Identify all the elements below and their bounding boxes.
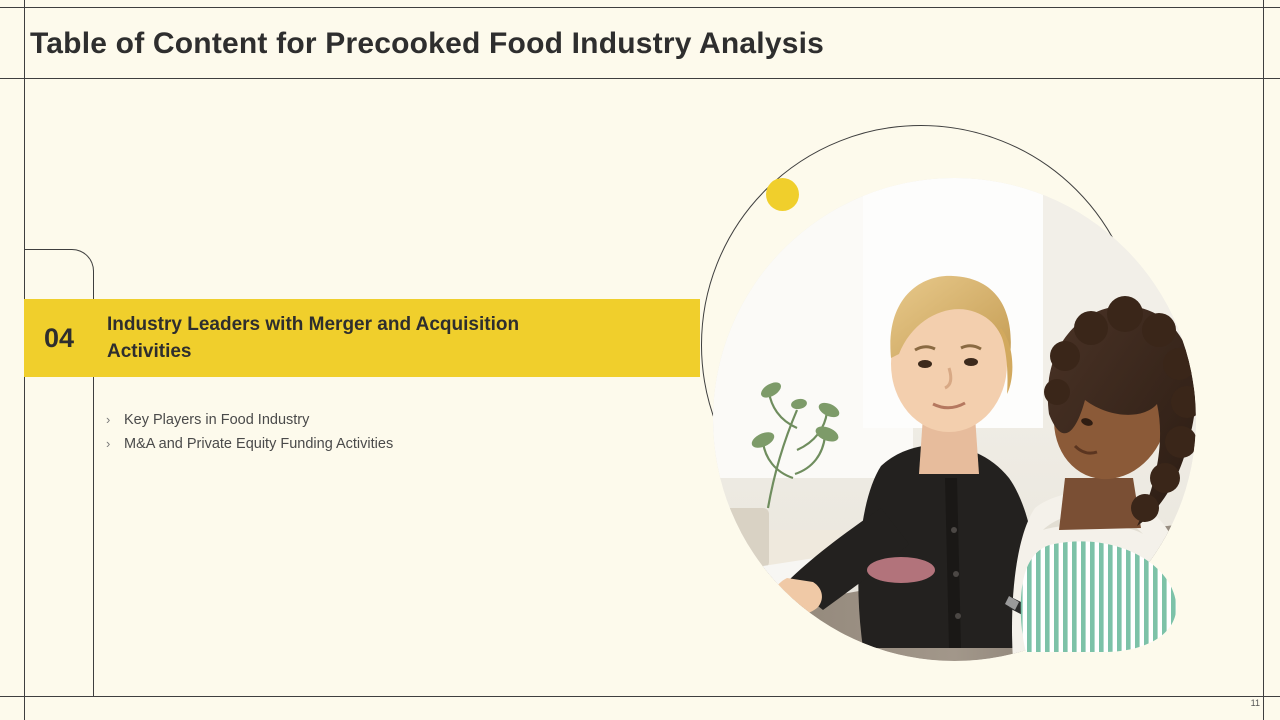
list-item: › M&A and Private Equity Funding Activit…	[106, 435, 526, 453]
list-item-label: Key Players in Food Industry	[124, 411, 309, 429]
section-heading-bar: Industry Leaders with Merger and Acquisi…	[94, 299, 700, 377]
chevron-right-icon: ›	[106, 435, 124, 453]
decorative-yellow-dot	[766, 178, 799, 211]
page-title: Table of Content for Precooked Food Indu…	[30, 27, 824, 61]
section-bullet-list: › Key Players in Food Industry › M&A and…	[106, 411, 526, 459]
guide-line-title	[0, 78, 1280, 79]
list-item: › Key Players in Food Industry	[106, 411, 526, 429]
decorative-striped-blob	[1018, 540, 1178, 652]
page-number: 11	[1251, 698, 1260, 708]
list-item-label: M&A and Private Equity Funding Activitie…	[124, 435, 393, 453]
guide-line-top	[0, 7, 1280, 8]
section-number: 04	[44, 323, 74, 354]
guide-line-right	[1263, 0, 1264, 720]
section-number-block: 04	[24, 299, 94, 377]
section-heading: Industry Leaders with Merger and Acquisi…	[94, 311, 567, 365]
chevron-right-icon: ›	[106, 411, 124, 429]
guide-line-bottom	[0, 696, 1280, 697]
slide-canvas: Table of Content for Precooked Food Indu…	[0, 0, 1280, 720]
